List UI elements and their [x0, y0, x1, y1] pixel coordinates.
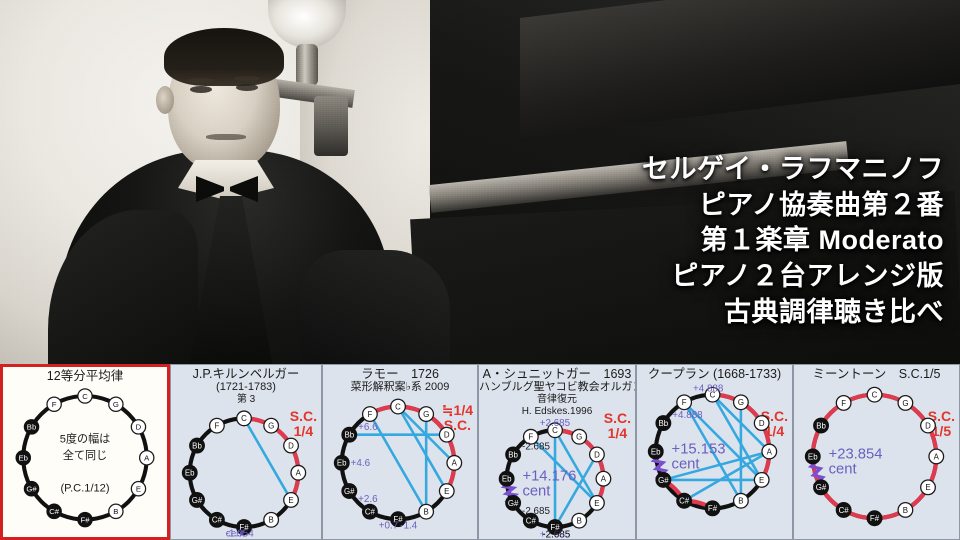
svg-text:E: E: [444, 487, 449, 496]
svg-text:G: G: [423, 410, 429, 419]
svg-text:D: D: [288, 441, 294, 450]
svg-text:G#: G#: [658, 476, 669, 485]
svg-text:+23.854: +23.854: [829, 446, 883, 462]
svg-text:F#: F#: [708, 504, 718, 513]
title-line-2: ピアノ協奏曲第２番: [642, 188, 944, 224]
temperament-panel-strip: 12等分平均律CGDAEBF#C#G#EbBbF5度の幅は全て同じ(P.C.1/…: [0, 364, 960, 540]
svg-text:+6.6: +6.6: [358, 422, 378, 433]
svg-text:+2.6: +2.6: [358, 494, 378, 505]
svg-text:C#: C#: [526, 517, 537, 526]
svg-text:D: D: [136, 423, 142, 432]
svg-text:C#: C#: [839, 506, 850, 515]
svg-text:+4.6: +4.6: [351, 458, 371, 469]
svg-text:Eb: Eb: [337, 459, 347, 468]
svg-text:C#: C#: [49, 507, 60, 516]
svg-text:D: D: [759, 419, 765, 428]
svg-text:G: G: [902, 399, 908, 408]
circle-of-fifths-diagram: CGDAEBF#C#G#EbBbF+2.685-2.685-2.685+2.68…: [479, 365, 635, 539]
svg-text:F: F: [214, 422, 219, 431]
svg-text:G#: G#: [816, 483, 827, 492]
temperament-panel-kirnberger-3[interactable]: J.P.キルンベルガー(1721-1783)第 3S.C.1/4CGDAEBF#…: [170, 364, 322, 540]
svg-text:B: B: [577, 517, 582, 526]
svg-text:D: D: [444, 431, 450, 440]
svg-text:F: F: [528, 433, 533, 442]
svg-text:+15.153: +15.153: [672, 441, 726, 457]
svg-text:-2.685: -2.685: [542, 529, 570, 539]
temperament-panel-equal-temperament[interactable]: 12等分平均律CGDAEBF#C#G#EbBbF5度の幅は全て同じ(P.C.1/…: [0, 364, 170, 540]
svg-text:E: E: [759, 476, 764, 485]
svg-text:+2.685: +2.685: [540, 418, 571, 429]
svg-text:+4.888: +4.888: [672, 410, 703, 421]
svg-text:+0.7: +0.7: [379, 520, 398, 531]
svg-text:G#: G#: [26, 485, 37, 494]
svg-text:cent: cent: [829, 461, 857, 477]
circle-of-fifths-diagram: CGDAEBF#C#G#EbBbF+6.6+4.6+2.6+0.7-1.4: [323, 365, 477, 539]
svg-text:C#: C#: [212, 516, 223, 525]
svg-text:+4.888: +4.888: [693, 383, 724, 394]
svg-text:G#: G#: [344, 487, 355, 496]
svg-text:Bb: Bb: [508, 450, 518, 459]
temperament-panel-schnitger-1693[interactable]: A・シュニットガー 1693ハンブルグ聖ヤコビ教会オルガン音律復元H. Edsk…: [478, 364, 636, 540]
svg-text:G: G: [268, 422, 274, 431]
temperament-panel-meantone[interactable]: ミーントーン S.C.1/5S.C.1/5CGDAEBF#C#G#EbBbF+2…: [793, 364, 960, 540]
svg-text:Bb: Bb: [192, 441, 202, 450]
svg-text:A: A: [601, 475, 607, 484]
svg-text:-1.4: -1.4: [400, 520, 417, 531]
circle-of-fifths-diagram: CGDAEBF#C#G#EbBbF+4.888+4.888+15.153cent: [637, 365, 792, 539]
svg-text:G#: G#: [508, 499, 519, 508]
title-line-4: ピアノ２台アレンジ版: [642, 259, 944, 295]
svg-text:F: F: [841, 399, 846, 408]
svg-text:Bb: Bb: [344, 431, 354, 440]
title-line-3: 第１楽章 Moderato: [642, 223, 944, 259]
svg-text:Eb: Eb: [502, 475, 512, 484]
svg-text:A: A: [144, 454, 150, 463]
svg-text:C: C: [241, 414, 247, 423]
svg-text:+14.176: +14.176: [522, 469, 576, 485]
circle-of-fifths-diagram: CGDAEBF#C#G#EbBbF+23.854cent: [794, 365, 959, 539]
temperament-panel-couperin[interactable]: クープラン (1668-1733)S.C.1/4CGDAEBF#C#G#EbBb…: [636, 364, 793, 540]
svg-text:F: F: [682, 398, 687, 407]
svg-text:F: F: [52, 400, 57, 409]
svg-text:G#: G#: [192, 496, 203, 505]
svg-text:E: E: [594, 499, 599, 508]
svg-text:-2.685: -2.685: [522, 506, 550, 517]
svg-text:B: B: [738, 497, 743, 506]
svg-text:Bb: Bb: [816, 421, 826, 430]
svg-text:B: B: [113, 507, 118, 516]
svg-text:D: D: [925, 421, 931, 430]
svg-text:C#: C#: [365, 508, 376, 517]
svg-text:B: B: [424, 508, 429, 517]
svg-text:E: E: [925, 483, 930, 492]
svg-text:A: A: [452, 459, 458, 468]
svg-text:B: B: [903, 506, 908, 515]
temperament-panel-rameau-1726[interactable]: ラモー 1726菜形解釈案♭系 2009≒1/4S.C.CGDAEBF#C#G#…: [322, 364, 478, 540]
svg-text:C: C: [395, 402, 401, 411]
svg-text:Eb: Eb: [185, 469, 195, 478]
svg-text:cent: cent: [226, 529, 245, 539]
svg-text:Bb: Bb: [27, 423, 36, 432]
svg-text:C#: C#: [679, 497, 690, 506]
circle-of-fifths-diagram: CGDAEBF#C#G#EbBbF5度の幅は全て同じ(P.C.1/12): [3, 367, 167, 537]
svg-text:Bb: Bb: [659, 419, 669, 428]
svg-text:A: A: [934, 452, 940, 461]
circle-of-fifths-diagram: CGDAEBF#C#G#EbBbF-1.954cent: [171, 365, 321, 539]
svg-text:5度の幅は: 5度の幅は: [60, 431, 111, 445]
svg-text:G: G: [738, 398, 744, 407]
svg-text:F: F: [367, 410, 372, 419]
svg-text:cent: cent: [672, 456, 700, 472]
title-line-5: 古典調律聴き比べ: [642, 295, 944, 331]
svg-text:F#: F#: [80, 515, 90, 524]
svg-text:E: E: [136, 485, 141, 494]
title-block: セルゲイ・ラフマニノフ ピアノ協奏曲第２番 第１楽章 Moderato ピアノ２…: [642, 152, 944, 330]
svg-text:Eb: Eb: [808, 452, 818, 461]
svg-text:G: G: [113, 400, 119, 409]
svg-text:F#: F#: [870, 514, 880, 523]
svg-text:D: D: [594, 450, 600, 459]
svg-text:cent: cent: [522, 483, 550, 499]
svg-text:B: B: [269, 516, 274, 525]
title-line-1: セルゲイ・ラフマニノフ: [642, 152, 944, 188]
svg-text:C: C: [82, 392, 88, 401]
svg-text:(P.C.1/12): (P.C.1/12): [60, 483, 109, 495]
svg-text:G: G: [576, 433, 582, 442]
svg-text:E: E: [288, 496, 293, 505]
svg-text:Eb: Eb: [651, 447, 661, 456]
svg-text:-2.685: -2.685: [522, 442, 550, 453]
svg-text:全て同じ: 全て同じ: [63, 448, 107, 462]
svg-text:Eb: Eb: [19, 454, 28, 463]
svg-text:C: C: [872, 391, 878, 400]
svg-text:A: A: [296, 469, 302, 478]
slide-stage: セルゲイ・ラフマニノフ ピアノ協奏曲第２番 第１楽章 Moderato ピアノ２…: [0, 0, 960, 540]
svg-text:A: A: [767, 447, 773, 456]
